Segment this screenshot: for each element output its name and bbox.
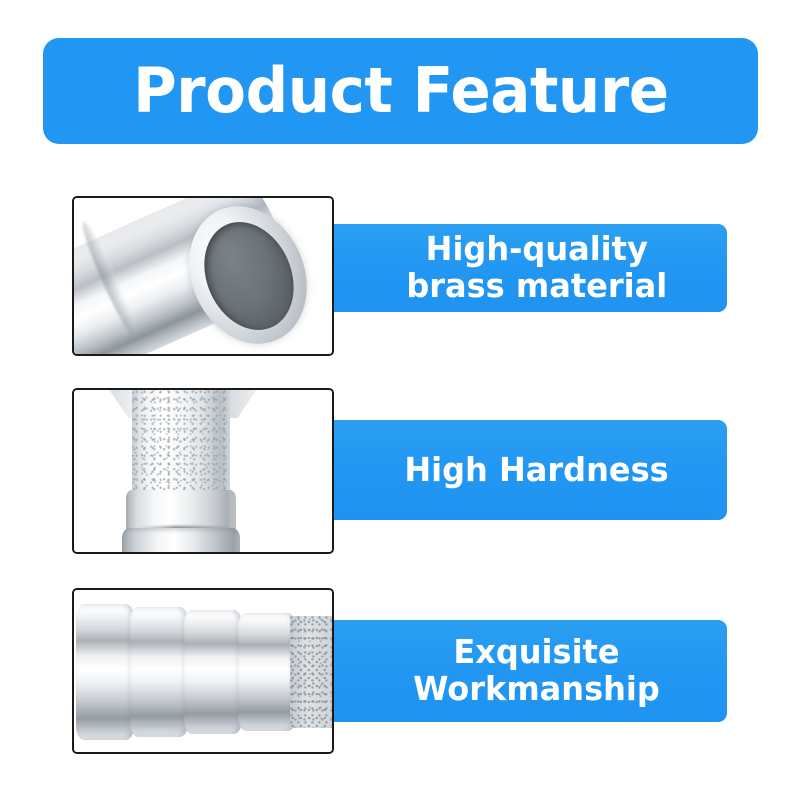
barb-rib-shape xyxy=(130,607,188,737)
fitting-flare-right-shape xyxy=(228,390,262,418)
barb-rib-shape xyxy=(76,604,134,740)
barb-textured-section-shape xyxy=(290,616,332,728)
feature-label-text: High Hardness xyxy=(346,452,680,489)
feature-photo-card xyxy=(72,196,334,356)
barb-rib-shape xyxy=(184,610,242,734)
feature-label-bar: Exquisite Workmanship xyxy=(300,620,727,722)
feature-photo-card xyxy=(72,388,334,554)
feature-photo-card xyxy=(72,588,334,754)
feature-label-bar: High Hardness xyxy=(300,420,727,520)
header-banner: Product Feature xyxy=(43,38,758,144)
barb-rib-shape xyxy=(238,613,296,731)
metal-fitting-textured-body-photo xyxy=(74,390,332,552)
feature-row: High-quality brass material xyxy=(0,196,800,356)
metal-pipe-end-bore-photo xyxy=(74,198,332,354)
product-feature-infographic: Product Feature High-quality brass mater… xyxy=(0,0,800,800)
fitting-band-lower-shape xyxy=(122,528,240,552)
feature-label-text: High-quality brass material xyxy=(348,231,679,305)
feature-row: High Hardness xyxy=(0,388,800,554)
page-title: Product Feature xyxy=(133,60,668,122)
barbed-hose-nipple-photo xyxy=(74,590,332,752)
fitting-textured-body-shape xyxy=(132,390,230,494)
feature-label-text: Exquisite Workmanship xyxy=(355,634,672,708)
feature-row: Exquisite Workmanship xyxy=(0,588,800,754)
feature-label-bar: High-quality brass material xyxy=(300,224,727,312)
